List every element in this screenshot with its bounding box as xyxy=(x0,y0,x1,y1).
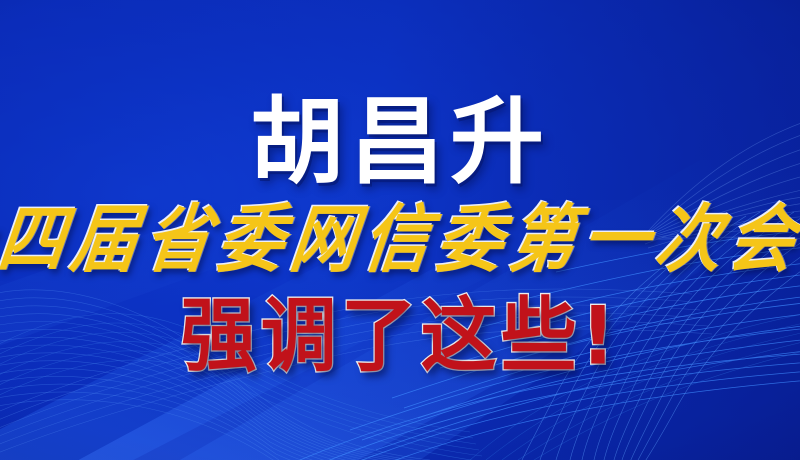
page-title: 胡昌升 xyxy=(250,96,550,190)
promo-banner: 胡昌升 在十四届省委网信委第一次会议上 强调了这些! xyxy=(0,0,800,460)
headline-stack: 胡昌升 在十四届省委网信委第一次会议上 强调了这些! xyxy=(0,0,800,460)
subtitle-line: 在十四届省委网信委第一次会议上 xyxy=(0,202,800,276)
emphasis-line: 强调了这些! xyxy=(181,296,620,377)
